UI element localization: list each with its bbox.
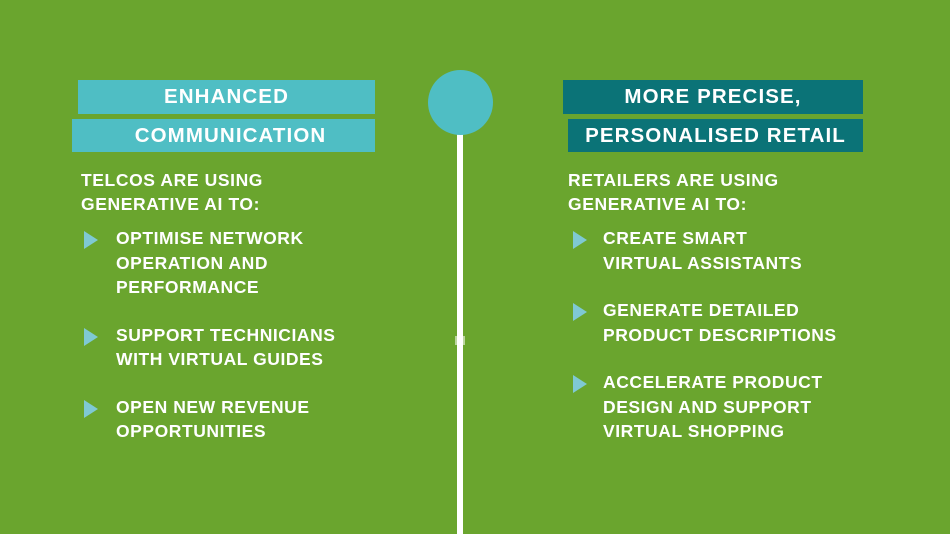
- list-item: GENERATE DETAILED PRODUCT DESCRIPTIONS: [563, 298, 868, 347]
- right-header-bar-line1: MORE PRECISE,: [563, 80, 863, 114]
- right-intro-text: RETAILERS ARE USING GENERATIVE AI TO:: [568, 168, 863, 216]
- right-bullet-list: CREATE SMART VIRTUAL ASSISTANTS GENERATE…: [563, 226, 868, 467]
- left-intro-text: TELCOS ARE USING GENERATIVE AI TO:: [81, 168, 371, 216]
- divider-line-notch: [455, 336, 465, 345]
- list-item-label: CREATE SMART VIRTUAL ASSISTANTS: [603, 226, 802, 275]
- slide-canvas: ENHANCED COMMUNICATION TELCOS ARE USING …: [0, 0, 950, 534]
- right-header-text-line1: MORE PRECISE,: [624, 85, 801, 109]
- left-header-text-line2: COMMUNICATION: [135, 124, 327, 148]
- list-item: CREATE SMART VIRTUAL ASSISTANTS: [563, 226, 868, 275]
- divider-circle-icon: [428, 70, 493, 135]
- triangle-bullet-icon: [573, 303, 587, 321]
- list-item-label: ACCELERATE PRODUCT DESIGN AND SUPPORT VI…: [603, 370, 823, 444]
- list-item: OPTIMISE NETWORK OPERATION AND PERFORMAN…: [78, 226, 383, 300]
- list-item: ACCELERATE PRODUCT DESIGN AND SUPPORT VI…: [563, 370, 868, 444]
- triangle-bullet-icon: [84, 328, 98, 346]
- list-item-label: GENERATE DETAILED PRODUCT DESCRIPTIONS: [603, 298, 837, 347]
- list-item-label: OPTIMISE NETWORK OPERATION AND PERFORMAN…: [116, 226, 304, 300]
- list-item-label: OPEN NEW REVENUE OPPORTUNITIES: [116, 395, 310, 444]
- triangle-bullet-icon: [84, 400, 98, 418]
- right-header-text-line2: PERSONALISED RETAIL: [585, 124, 846, 148]
- left-header-bar-line2: COMMUNICATION: [72, 119, 375, 152]
- list-item: SUPPORT TECHNICIANS WITH VIRTUAL GUIDES: [78, 323, 383, 372]
- left-header-text-line1: ENHANCED: [164, 85, 289, 109]
- list-item-label: SUPPORT TECHNICIANS WITH VIRTUAL GUIDES: [116, 323, 336, 372]
- triangle-bullet-icon: [573, 231, 587, 249]
- left-header-bar-line1: ENHANCED: [78, 80, 375, 114]
- column-left: ENHANCED COMMUNICATION TELCOS ARE USING …: [78, 0, 378, 534]
- list-item: OPEN NEW REVENUE OPPORTUNITIES: [78, 395, 383, 444]
- triangle-bullet-icon: [573, 375, 587, 393]
- right-header-bar-line2: PERSONALISED RETAIL: [568, 119, 863, 152]
- column-right: MORE PRECISE, PERSONALISED RETAIL RETAIL…: [563, 0, 865, 534]
- divider-line: [457, 96, 463, 534]
- triangle-bullet-icon: [84, 231, 98, 249]
- left-bullet-list: OPTIMISE NETWORK OPERATION AND PERFORMAN…: [78, 226, 383, 467]
